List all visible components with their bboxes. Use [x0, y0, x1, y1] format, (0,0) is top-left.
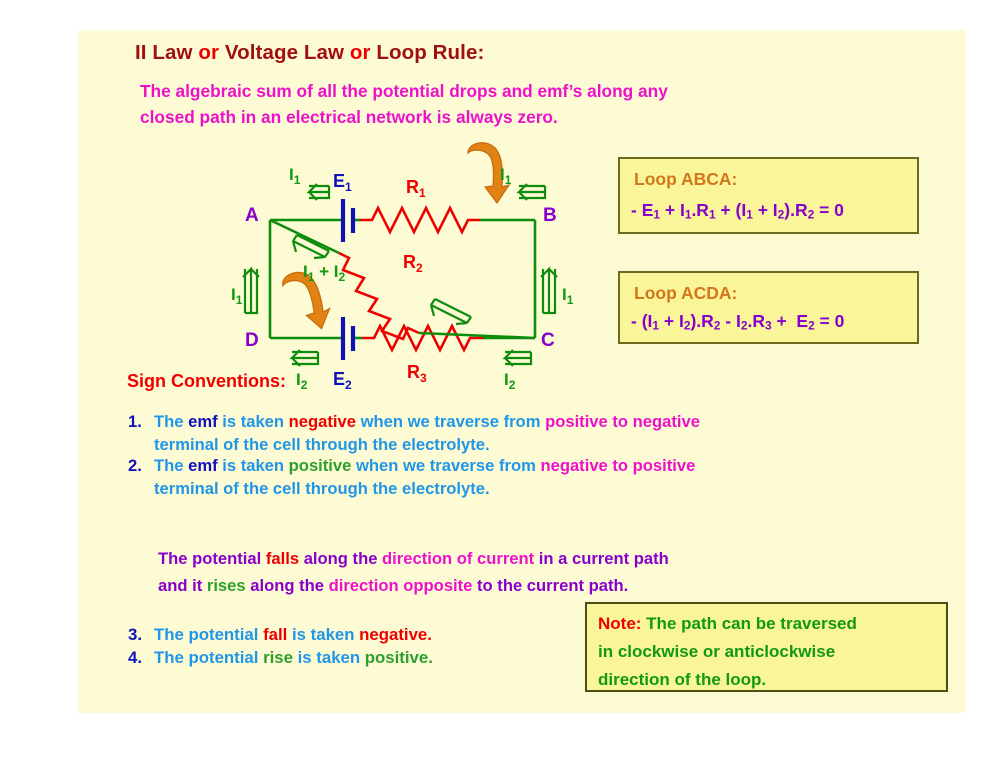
loop-acda-box: Loop ACDA: - (I1 + I2).R2 - I2.R3 + E2 =…	[618, 271, 919, 344]
sign-convention-item-1-line-1: 1.The emf is taken negative when we trav…	[128, 411, 700, 434]
para-l1-seg2: falls	[266, 549, 304, 568]
node-label-c: C	[541, 330, 555, 351]
resistor-r1-symbol	[360, 208, 480, 232]
sign-convention-item-2: 2.The emf is taken positive when we trav…	[128, 455, 695, 500]
sign-conventions-items-b: 3.The potential fall is taken negative. …	[128, 624, 433, 669]
para-l2-seg4: direction opposite	[329, 576, 477, 595]
note-line-3: direction of the loop.	[598, 666, 857, 694]
sign-convention-item-2-number: 2.	[128, 455, 154, 478]
loop-abca-box: Loop ABCA: - E1 + I1.R1 + (I1 + I2).R2 =…	[618, 157, 919, 234]
current-label-i1-top-right: I1	[500, 165, 512, 187]
title-part-3: Voltage Law	[225, 41, 350, 64]
current-arrow-i1-right	[541, 269, 557, 313]
resistor-label-r1: R1	[406, 177, 426, 200]
note-line-2: in clockwise or anticlockwise	[598, 638, 857, 666]
slide-panel: II Law or Voltage Law or Loop Rule: The …	[78, 30, 965, 713]
title-part-1: II Law	[135, 41, 198, 64]
conv4-seg2: rise	[263, 648, 298, 667]
para-l2-seg2: rises	[207, 576, 250, 595]
note-line-1: Note: The path can be traversed	[598, 610, 857, 638]
current-arrow-i1-top-right	[519, 184, 545, 200]
loop-abca-equation: - E1 + I1.R1 + (I1 + I2).R2 = 0	[631, 200, 844, 222]
potential-paragraph: The potential falls along the direction …	[158, 545, 669, 599]
conv1-seg6: positive to negative	[545, 412, 700, 431]
para-l2-seg3: along the	[250, 576, 328, 595]
sign-convention-item-2-line-1: 2.The emf is taken positive when we trav…	[128, 455, 695, 478]
current-arrow-i2-left	[243, 269, 259, 313]
wire-a-to-r2	[270, 220, 339, 253]
sign-convention-item-1-number: 1.	[128, 411, 154, 434]
conv1-seg4: negative	[289, 412, 361, 431]
law-statement: The algebraic sum of all the potential d…	[140, 78, 668, 130]
node-label-b: B	[543, 205, 557, 226]
law-statement-line-1: The algebraic sum of all the potential d…	[140, 78, 668, 104]
current-label-i2-bottom-left: I2	[296, 370, 308, 390]
circuit-diagram: .wire { stroke:#0e8c0e; stroke-width:2.6…	[153, 135, 608, 390]
conv3-seg3: is taken	[292, 625, 359, 644]
current-label-i1-right: I1	[562, 285, 574, 307]
para-l1-seg5: in a current path	[539, 549, 669, 568]
sign-convention-item-1: 1.The emf is taken negative when we trav…	[128, 411, 700, 456]
conv2-seg6: negative to positive	[540, 456, 695, 475]
conv3-seg2: fall	[263, 625, 292, 644]
node-label-a: A	[245, 205, 259, 226]
title-part-4: or	[350, 41, 377, 64]
conv4-seg1: The potential	[154, 648, 263, 667]
para-l1-seg4: direction of current	[382, 549, 539, 568]
current-label-branch: I1 + I2	[303, 262, 346, 284]
para-l1-seg1: The potential	[158, 549, 266, 568]
conv3-seg4: negative.	[359, 625, 432, 644]
conv2-seg2: emf	[188, 456, 222, 475]
conv2-seg5: when we traverse from	[356, 456, 540, 475]
current-arrow-i2-bottom-right	[505, 350, 531, 366]
current-arrow-branch-lower	[431, 299, 471, 324]
conv3-seg1: The potential	[154, 625, 263, 644]
note-label: Note:	[598, 614, 641, 633]
conv1-seg2: emf	[188, 412, 222, 431]
conv1-seg5: when we traverse from	[361, 412, 545, 431]
current-label-i2-bottom-right: I2	[504, 370, 516, 390]
current-label-i1-top-left: I1	[289, 165, 301, 187]
title-part-5: Loop Rule:	[376, 41, 484, 64]
note-text: Note: The path can be traversed in clock…	[598, 610, 857, 694]
conv1-seg3: is taken	[222, 412, 288, 431]
potential-paragraph-line-1: The potential falls along the direction …	[158, 545, 669, 572]
potential-paragraph-line-2: and it rises along the direction opposit…	[158, 572, 669, 599]
page-title: II Law or Voltage Law or Loop Rule:	[135, 41, 484, 65]
battery-label-e1: E1	[333, 171, 352, 194]
current-label-i2-left: I1	[231, 285, 243, 307]
loop-acda-equation: - (I1 + I2).R2 - I2.R3 + E2 = 0	[631, 311, 844, 333]
title-part-2: or	[198, 41, 225, 64]
conv2-seg4: positive	[289, 456, 356, 475]
current-arrow-i1-top-left	[309, 184, 329, 200]
resistor-label-r2: R2	[403, 252, 423, 275]
sign-convention-item-3-number: 3.	[128, 624, 154, 647]
resistor-r3-symbol	[362, 326, 483, 350]
conv4-seg4: positive.	[365, 648, 433, 667]
sign-convention-item-4-number: 4.	[128, 647, 154, 670]
battery-label-e2: E2	[333, 369, 352, 390]
conv2-seg3: is taken	[222, 456, 288, 475]
resistor-label-r3: R3	[407, 362, 427, 385]
para-l1-seg3: along the	[304, 549, 382, 568]
conv4-seg3: is taken	[298, 648, 365, 667]
conv1-seg1: The	[154, 412, 188, 431]
loop-acda-heading: Loop ACDA:	[634, 283, 737, 304]
sign-convention-item-4: 4.The potential rise is taken positive.	[128, 647, 433, 670]
sign-convention-item-1-line-2: terminal of the cell through the electro…	[128, 434, 700, 457]
sign-convention-item-2-line-2: terminal of the cell through the electro…	[128, 478, 695, 501]
law-statement-line-2: closed path in an electrical network is …	[140, 104, 668, 130]
loop-abca-heading: Loop ABCA:	[634, 169, 737, 190]
para-l2-seg5: to the current path.	[477, 576, 628, 595]
sign-conventions-heading: Sign Conventions:	[127, 371, 286, 392]
note-line-1-text: The path can be traversed	[641, 614, 856, 633]
note-box: Note: The path can be traversed in clock…	[585, 602, 948, 692]
node-label-d: D	[245, 330, 259, 351]
current-arrow-i2-bottom-left	[292, 350, 318, 366]
para-l2-seg1: and it	[158, 576, 207, 595]
conv2-seg1: The	[154, 456, 188, 475]
sign-convention-item-3: 3.The potential fall is taken negative.	[128, 624, 433, 647]
